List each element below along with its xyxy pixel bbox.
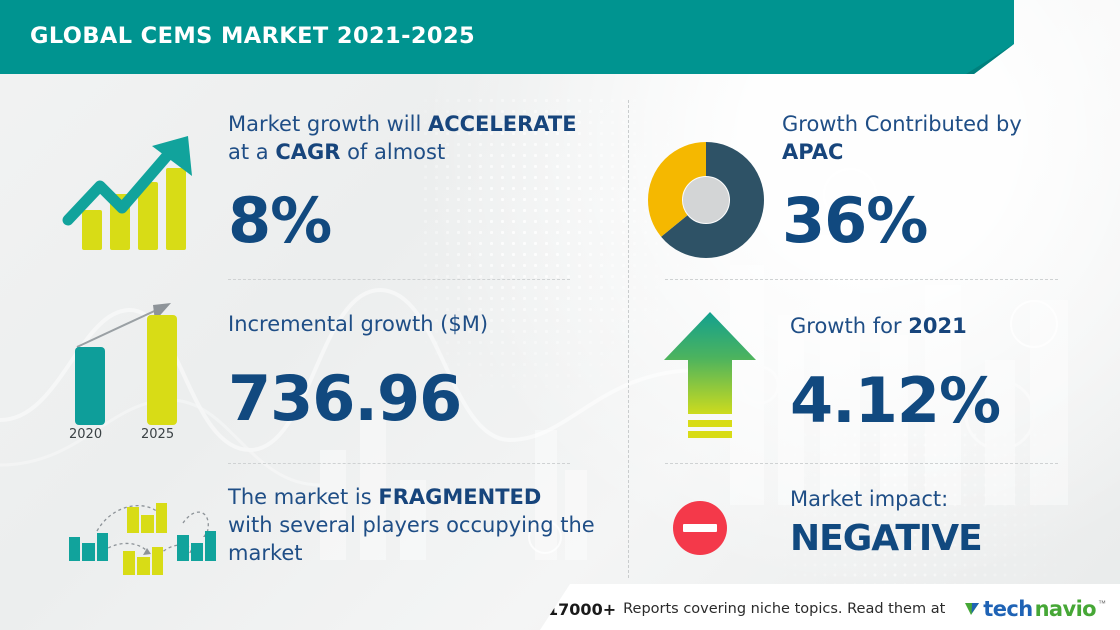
up-arrow-icon (660, 310, 760, 445)
footer-bar: 17000+ Reports covering niche topics. Re… (0, 584, 1120, 630)
cagr-line-1: Market growth will ACCELERATE (228, 110, 577, 138)
apac-line-1: Growth Contributed by (782, 110, 1022, 138)
footer-text: Reports covering niche topics. Read them… (623, 601, 945, 617)
logo-text-navio: navio (1035, 597, 1096, 621)
market-impact-value: NEGATIVE (790, 521, 982, 557)
fragmented-line1-prefix: The market is (228, 485, 378, 509)
left-divider-1 (228, 279, 570, 280)
cagr-text-block: Market growth will ACCELERATE at a CAGR … (228, 110, 577, 166)
report-count: 17000+ (547, 600, 616, 619)
right-divider-2 (665, 463, 1058, 464)
incremental-growth-value: 736.96 (228, 368, 461, 430)
technavio-logo[interactable]: technavio™ (964, 597, 1106, 621)
dot-grid-texture-secondary (770, 430, 1070, 600)
growth-2021-prefix: Growth for (790, 314, 908, 338)
bar-label-2025: 2025 (141, 427, 174, 442)
cagr-line-2: at a CAGR of almost (228, 138, 577, 166)
cagr-line1-prefix: Market growth will (228, 112, 428, 136)
two-bars-icon: 2020 2025 (55, 285, 205, 450)
donut-chart-icon (648, 142, 764, 258)
cagr-value: 8% (228, 190, 331, 252)
growth-2021-year: 2021 (908, 314, 966, 338)
cagr-line2-strong: CAGR (275, 140, 340, 164)
growth-2021-label: Growth for 2021 (790, 312, 967, 340)
negative-sign-icon (672, 500, 728, 556)
buildings-network-icon (55, 485, 225, 575)
page-title: GLOBAL CEMS MARKET 2021-2025 (30, 23, 475, 49)
market-impact-label: Market impact: (790, 485, 948, 513)
cagr-line1-strong: ACCELERATE (428, 112, 577, 136)
fragmented-line-3: market (228, 539, 595, 567)
fragmented-line-2: with several players occupying the (228, 511, 595, 539)
fragmented-text-block: The market is FRAGMENTED with several pl… (228, 483, 595, 567)
column-divider (628, 100, 629, 578)
apac-region: APAC (782, 140, 843, 164)
left-divider-2 (228, 463, 570, 464)
logo-trademark: ™ (1098, 599, 1106, 608)
apac-text-block: Growth Contributed by APAC (782, 110, 1022, 166)
fragmented-line-1: The market is FRAGMENTED (228, 483, 595, 511)
right-divider-1 (665, 279, 1058, 280)
infographic-root: GLOBAL CEMS MARKET 2021-2025 Market grow… (0, 0, 1120, 630)
cagr-line2-prefix: at a (228, 140, 275, 164)
bar-label-2020: 2020 (69, 427, 102, 442)
incremental-growth-label: Incremental growth ($M) (228, 310, 488, 338)
technavio-mark-icon (964, 599, 981, 619)
logo-text-tech: tech (983, 597, 1032, 621)
apac-value: 36% (782, 190, 927, 252)
footer-content: 17000+ Reports covering niche topics. Re… (547, 597, 1106, 621)
apac-line-2: APAC (782, 138, 1022, 166)
growth-chart-icon (60, 128, 210, 258)
ghost-ring-2 (1010, 300, 1058, 348)
fragmented-line1-strong: FRAGMENTED (378, 485, 541, 509)
cagr-line2-suffix: of almost (340, 140, 445, 164)
growth-2021-value: 4.12% (790, 370, 1000, 432)
two-bars-graphic (55, 285, 205, 450)
